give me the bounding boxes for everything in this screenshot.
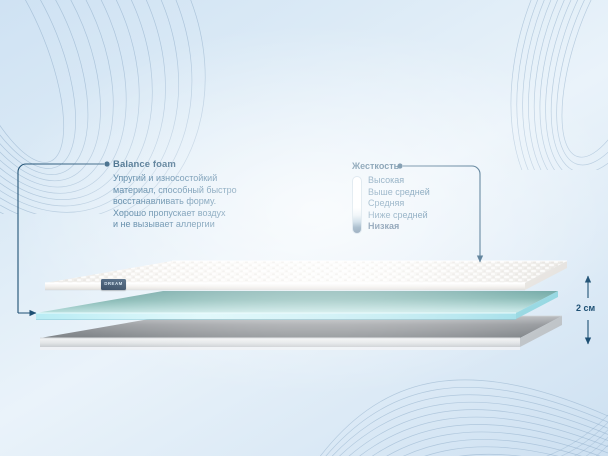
- mattress-layer-balance-foam: [36, 291, 558, 319]
- thickness-label: 2 см: [576, 303, 595, 314]
- product-infographic: DREAM: [0, 0, 608, 456]
- decor-lines-bottom-right: [300, 330, 608, 456]
- firmness-level-below-medium: Ниже средней: [368, 210, 430, 222]
- mattress-illustration: [0, 0, 608, 456]
- balance-foam-description: Упругий и износостойкий материал, способ…: [113, 173, 273, 231]
- callout-connectors: [0, 0, 608, 456]
- firmness-scale: Высокая Выше средней Средняя Ниже средне…: [352, 175, 430, 233]
- brand-tag: DREAM: [101, 279, 126, 290]
- mattress-layer-base: [40, 316, 562, 350]
- firmness-title: Жесткость: [352, 161, 430, 172]
- firmness-level-medium: Средняя: [368, 198, 430, 210]
- left-callout-line: [18, 161, 110, 313]
- decor-lines-top-right: [462, 0, 608, 170]
- firmness-level-high: Высокая: [368, 175, 430, 187]
- brand-tag-label: DREAM: [101, 281, 126, 286]
- balance-foam-callout: Balance foam Упругий и износостойкий мат…: [113, 159, 273, 231]
- firmness-level-low: Низкая: [368, 221, 430, 233]
- firmness-callout: Жесткость Высокая Выше средней Средняя Н…: [352, 161, 430, 233]
- firmness-gauge-icon: [352, 176, 362, 234]
- firmness-level-above-medium: Выше средней: [368, 187, 430, 199]
- balance-foam-title: Balance foam: [113, 159, 273, 171]
